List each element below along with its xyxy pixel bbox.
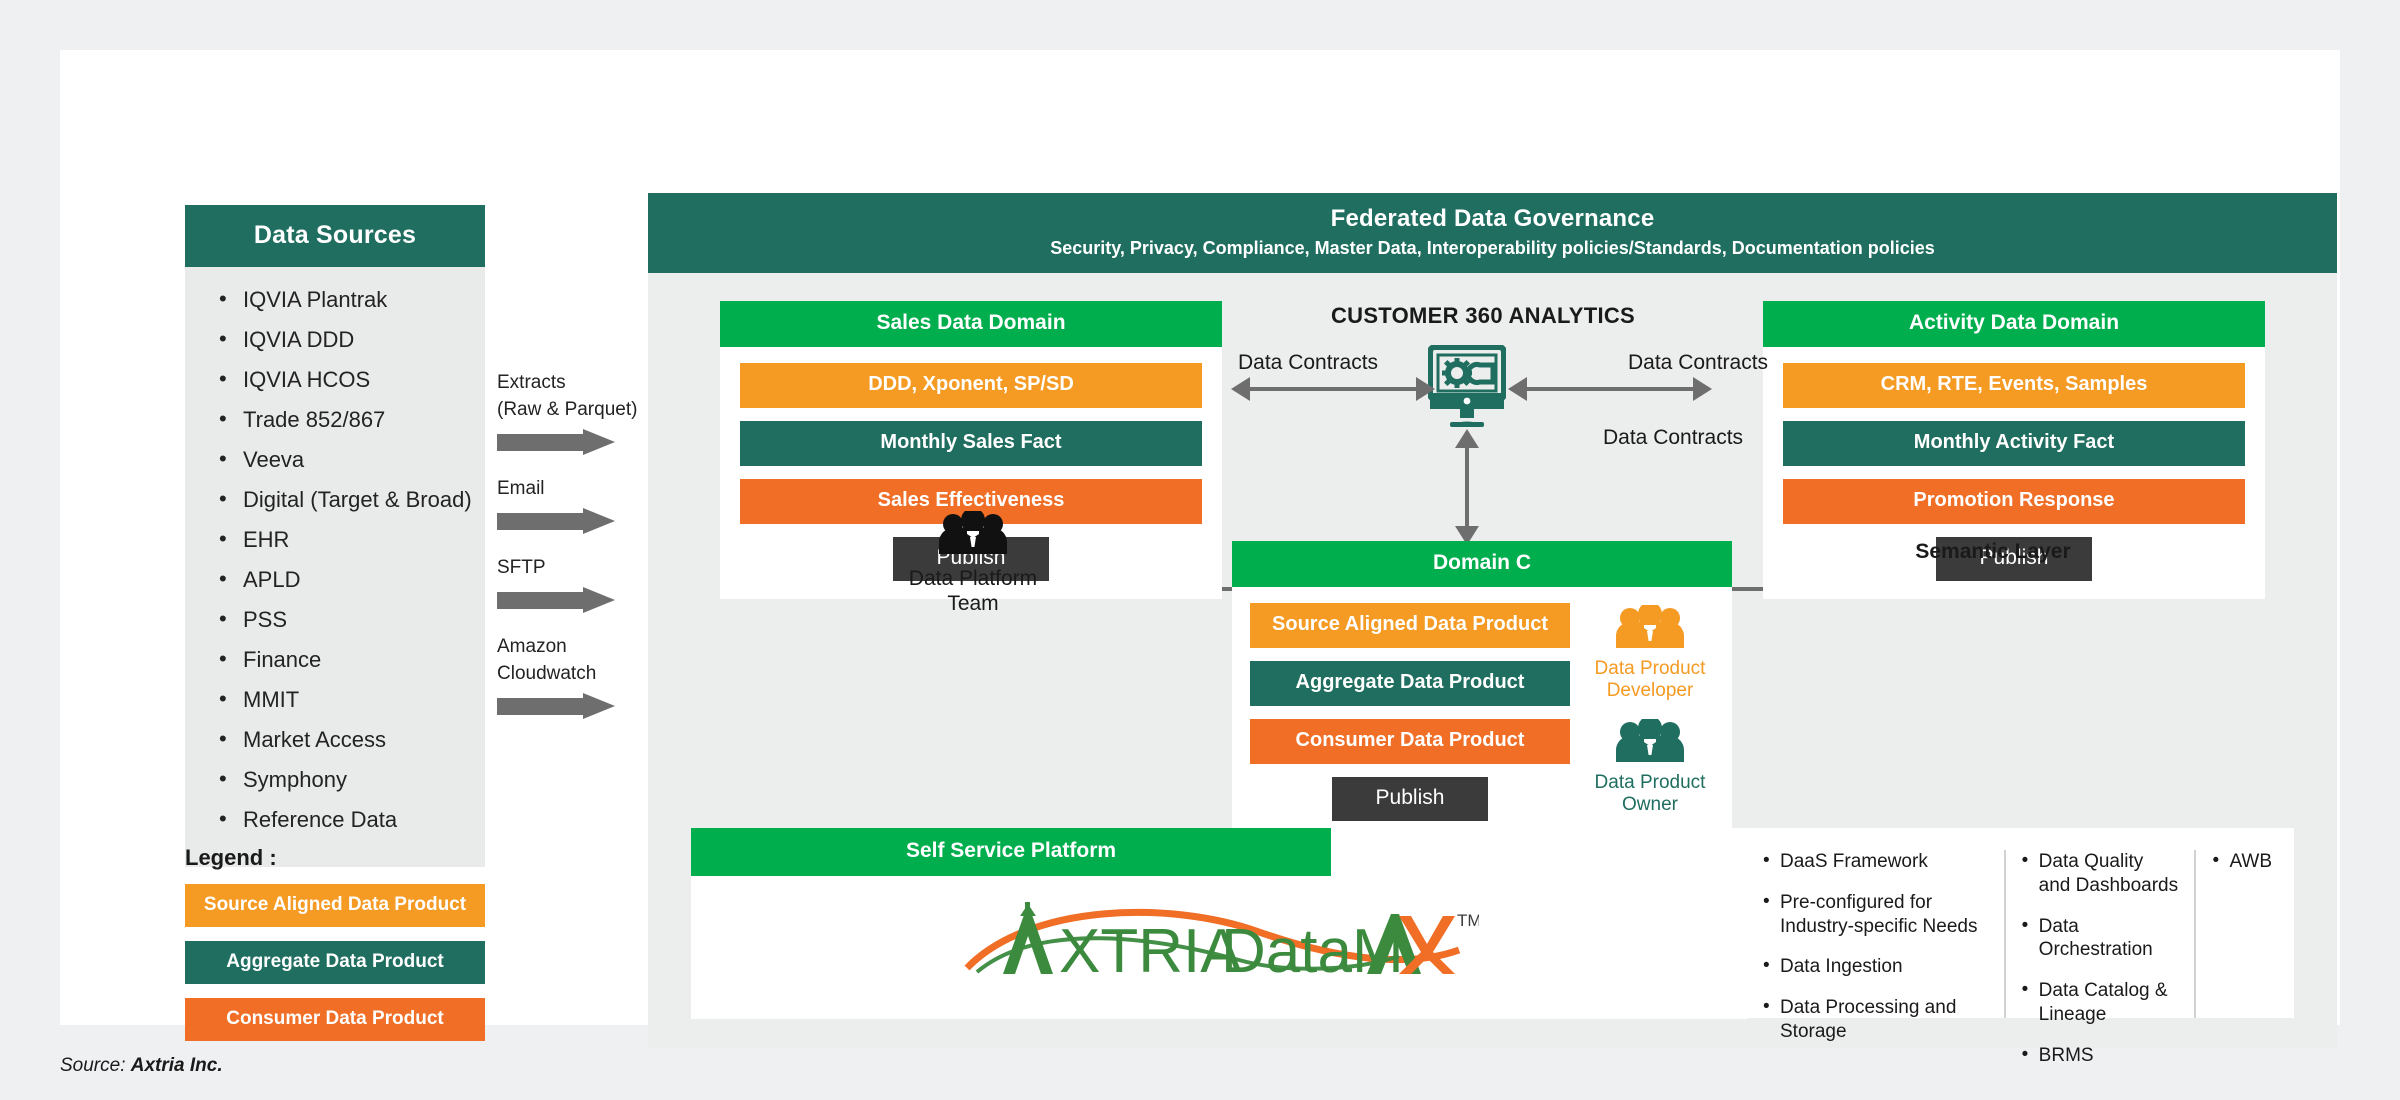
self-service-platform-header: Self Service Platform — [691, 828, 1331, 876]
federated-governance-banner: Federated Data Governance Security, Priv… — [648, 193, 2337, 273]
arrow-head-bottom-up — [1455, 429, 1479, 448]
data-source-item: Digital (Target & Broad) — [185, 485, 485, 514]
legend-item: Consumer Data Product — [185, 998, 485, 1041]
platform-feature-item: Data Orchestration — [2022, 915, 2179, 963]
data-source-item: IQVIA DDD — [185, 325, 485, 354]
feature-column-3: AWB — [2194, 850, 2294, 1018]
trademark-symbol: TM — [1457, 911, 1479, 930]
data-source-item: Veeva — [185, 445, 485, 474]
legend-item: Source Aligned Data Product — [185, 884, 485, 927]
transfer-method: SFTP — [497, 555, 657, 613]
data-sources-list: IQVIA PlantrakIQVIA DDDIQVIA HCOSTrade 8… — [185, 285, 485, 834]
data-product-bar: Monthly Activity Fact — [1783, 421, 2245, 466]
arrow-shaft-left — [1250, 387, 1416, 391]
diagram-page: Data Sources IQVIA PlantrakIQVIA DDDIQVI… — [0, 0, 2400, 1100]
data-product-bar: CRM, RTE, Events, Samples — [1783, 363, 2245, 408]
feature-column-1: DaaS FrameworkPre-configured for Industr… — [1747, 850, 2004, 1018]
transfer-label-line2: (Raw & Parquet) — [497, 397, 657, 424]
people-group-icon-platform-team — [937, 542, 1009, 559]
semantic-layer-label: Semantic Layer — [1833, 540, 2153, 564]
transfer-method: Extracts(Raw & Parquet) — [497, 370, 657, 455]
data-source-item: Reference Data — [185, 805, 485, 834]
domain-c-publish-button[interactable]: Publish — [1332, 777, 1488, 821]
data-source-item: EHR — [185, 525, 485, 554]
platform-feature-item: DaaS Framework — [1763, 850, 1988, 874]
legend-title: Legend : — [185, 845, 485, 871]
data-source-item: Finance — [185, 645, 485, 674]
data-contracts-label-bottom: Data Contracts — [1603, 426, 1743, 450]
source-footer: Source: Axtria Inc. — [60, 1055, 223, 1077]
data-source-item: Trade 852/867 — [185, 405, 485, 434]
data-contracts-label-right: Data Contracts — [1628, 351, 1768, 375]
svg-text:XTRIA: XTRIA — [1059, 917, 1242, 984]
data-sources-body: IQVIA PlantrakIQVIA DDDIQVIA HCOSTrade 8… — [185, 267, 485, 867]
data-source-item: Symphony — [185, 765, 485, 794]
data-product-developer-label: Data Product Developer — [1584, 658, 1716, 703]
domain-c-roles: Data Product Developer — [1584, 603, 1716, 821]
domain-c-header: Domain C — [1232, 541, 1732, 587]
data-source-item: Market Access — [185, 725, 485, 754]
data-product-bar: Source Aligned Data Product — [1250, 603, 1570, 648]
platform-feature-item: Data Ingestion — [1763, 955, 1988, 979]
data-platform-team-label-line1: Data Platform — [883, 566, 1063, 591]
transfer-label-line1: Email — [497, 476, 657, 503]
data-source-item: IQVIA Plantrak — [185, 285, 485, 314]
customer-360-analytics-title: CUSTOMER 360 ANALYTICS — [1288, 303, 1678, 329]
transfer-arrow-icon — [497, 587, 615, 613]
transfer-method: AmazonCloudwatch — [497, 634, 657, 719]
data-product-bar: DDD, Xponent, SP/SD — [740, 363, 1202, 408]
data-product-bar: Monthly Sales Fact — [740, 421, 1202, 466]
transfer-label-line1: Extracts — [497, 370, 657, 397]
data-product-owner-label: Data Product Owner — [1584, 772, 1716, 817]
source-prefix: Source: — [60, 1055, 131, 1076]
people-group-icon-owner — [1614, 719, 1686, 768]
transfer-label-line1: Amazon — [497, 634, 657, 661]
domain-c-body: Source Aligned Data ProductAggregate Dat… — [1232, 587, 1732, 837]
arrow-head-left-start — [1231, 377, 1250, 401]
transfer-label-line2: Cloudwatch — [497, 661, 657, 688]
transfer-label-line1: SFTP — [497, 555, 657, 582]
domain-c-products: Source Aligned Data ProductAggregate Dat… — [1250, 603, 1570, 821]
arrow-shaft-bottom — [1465, 448, 1469, 526]
data-product-bar: Aggregate Data Product — [1250, 661, 1570, 706]
data-platform-team-label-line2: Team — [883, 591, 1063, 616]
source-name: Axtria Inc. — [131, 1055, 223, 1076]
feature-column-2: Data Quality and DashboardsData Orchestr… — [2004, 850, 2195, 1018]
platform-feature-item: Data Processing and Storage — [1763, 996, 1988, 1044]
monitor-gear-wrench-icon — [1428, 345, 1506, 434]
data-sources-panel: Data Sources IQVIA PlantrakIQVIA DDDIQVI… — [185, 205, 485, 867]
architecture-stage: Federated Data Governance Security, Priv… — [648, 193, 2337, 1048]
data-contracts-label-left: Data Contracts — [1238, 351, 1378, 375]
sales-domain-header: Sales Data Domain — [720, 301, 1222, 347]
arrow-head-right-start — [1508, 377, 1527, 401]
arrow-head-left-end — [1416, 377, 1435, 401]
platform-feature-item: AWB — [2212, 850, 2278, 874]
platform-feature-item: BRMS — [2022, 1044, 2179, 1068]
transfer-method: Email — [497, 476, 657, 534]
platform-feature-item: Data Quality and Dashboards — [2022, 850, 2179, 898]
platform-feature-item: Data Catalog & Lineage — [2022, 979, 2179, 1027]
governance-title: Federated Data Governance — [648, 205, 2337, 233]
data-sources-title: Data Sources — [185, 205, 485, 267]
governance-subtitle: Security, Privacy, Compliance, Master Da… — [648, 238, 2337, 259]
white-canvas: Data Sources IQVIA PlantrakIQVIA DDDIQVI… — [60, 50, 2340, 1025]
legend: Legend : Source Aligned Data ProductAggr… — [185, 845, 485, 1055]
data-source-item: MMIT — [185, 685, 485, 714]
data-platform-team: Data Platform Team — [883, 511, 1063, 616]
data-product-bar: Consumer Data Product — [1250, 719, 1570, 764]
arrow-shaft-right — [1527, 387, 1693, 391]
people-group-icon-developer — [1614, 605, 1686, 654]
data-source-item: APLD — [185, 565, 485, 594]
data-source-item: PSS — [185, 605, 485, 634]
arrow-head-right-end — [1693, 377, 1712, 401]
transfer-arrow-icon — [497, 693, 615, 719]
transfer-arrow-icon — [497, 429, 615, 455]
domain-c-panel: Domain C Source Aligned Data ProductAggr… — [1232, 541, 1732, 837]
legend-item: Aggregate Data Product — [185, 941, 485, 984]
transfer-arrow-icon — [497, 508, 615, 534]
data-product-bar: Promotion Response — [1783, 479, 2245, 524]
data-source-item: IQVIA HCOS — [185, 365, 485, 394]
activity-domain-header: Activity Data Domain — [1763, 301, 2265, 347]
transfer-methods: Extracts(Raw & Parquet)EmailSFTPAmazonCl… — [497, 370, 657, 740]
platform-features-panel: DaaS FrameworkPre-configured for Industr… — [1747, 828, 2294, 1018]
platform-feature-item: Pre-configured for Industry-specific Nee… — [1763, 891, 1988, 939]
